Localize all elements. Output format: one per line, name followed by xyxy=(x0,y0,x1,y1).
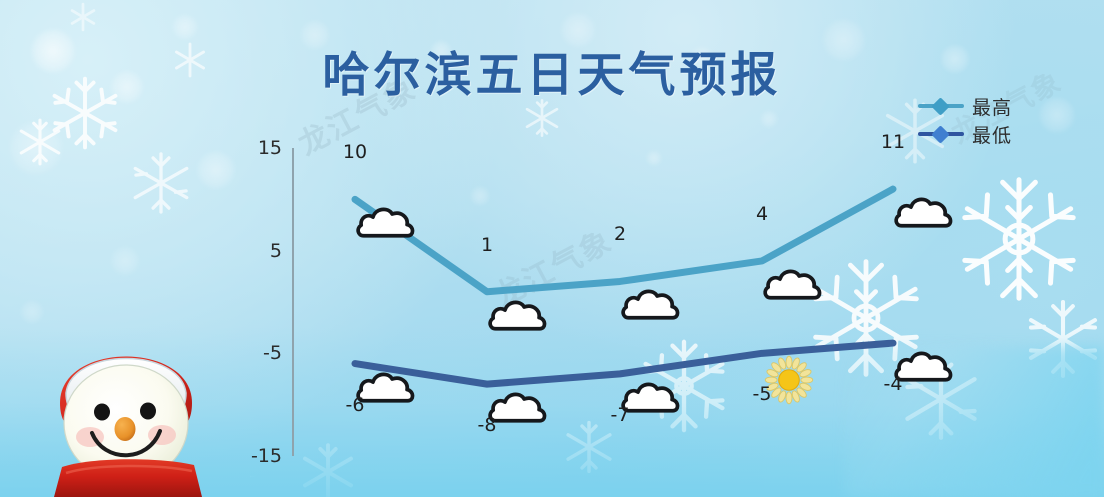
data-label-最高: 4 xyxy=(756,203,768,225)
data-label-最低: -5 xyxy=(753,383,772,405)
legend-label-high: 最高 xyxy=(972,93,1012,120)
data-label-最高: 11 xyxy=(881,131,905,153)
legend-label-low: 最低 xyxy=(972,121,1012,148)
data-label-最低: -6 xyxy=(346,394,365,416)
snowman-illustration xyxy=(26,307,226,497)
y-axis-tick: -15 xyxy=(228,445,282,467)
data-label-最低: -7 xyxy=(611,404,630,426)
snowman-nose xyxy=(115,417,136,441)
data-label-最高: 2 xyxy=(614,223,626,245)
legend-marker-high-icon xyxy=(918,99,964,113)
legend-item-low[interactable]: 最低 xyxy=(918,120,1012,148)
y-axis-tick: 15 xyxy=(228,137,282,159)
legend-item-high[interactable]: 最高 xyxy=(918,92,1012,120)
data-label-最高: 1 xyxy=(481,234,493,256)
legend-marker-low-icon xyxy=(918,127,964,141)
y-axis-tick: 5 xyxy=(228,240,282,262)
snowman-eye-left xyxy=(94,404,110,421)
data-label-最低: -8 xyxy=(478,414,497,436)
y-axis-tick: -5 xyxy=(228,342,282,364)
snowman-eye-right xyxy=(140,403,156,420)
data-label-最低: -4 xyxy=(884,373,903,395)
chart-legend: 最高 最低 xyxy=(918,92,1012,148)
data-label-最高: 10 xyxy=(343,141,367,163)
